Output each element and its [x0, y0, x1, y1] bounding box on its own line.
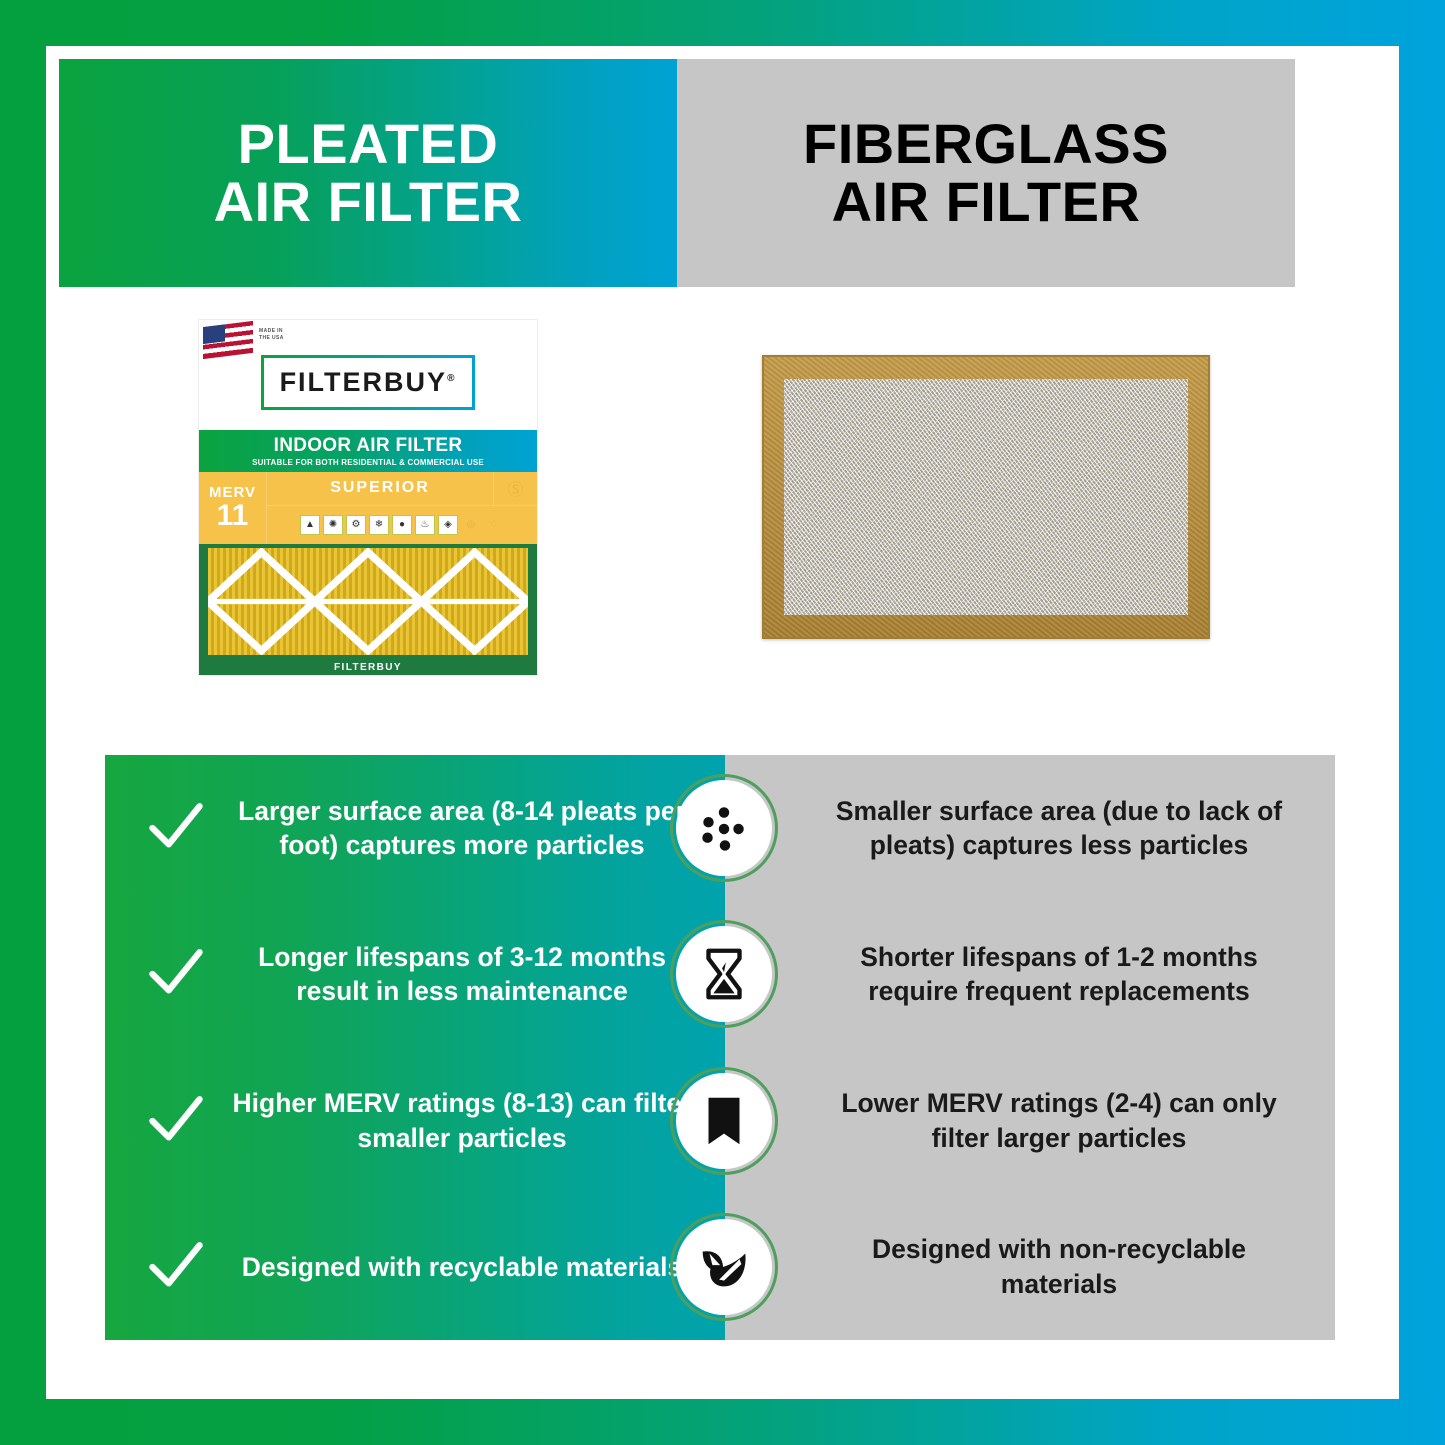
fb-gold-strip: MERV 11 SUPERIOR Ⓢ ▲ ✺ ⚙ ❄ ● [199, 472, 537, 544]
row-left-3: Higher MERV ratings (8-13) can filter sm… [105, 1086, 725, 1155]
row-right-text-1: Smaller surface area (due to lack of ple… [725, 794, 1335, 863]
filterbuy-product-box: MADE INTHE USA FILTERBUY® INDOOR AIR FIL… [199, 320, 537, 675]
usa-flag-icon [203, 320, 253, 358]
row-right-text-2: Shorter lifespans of 1-2 months require … [725, 940, 1335, 1009]
comparison-row: Larger surface area (8-14 pleats per foo… [105, 755, 1335, 901]
header-fiberglass-line2: AIR FILTER [832, 173, 1141, 231]
leaf-icon [670, 1213, 778, 1321]
hourglass-icon [670, 920, 778, 1028]
row-left-1: Larger surface area (8-14 pleats per foo… [105, 794, 725, 863]
row-left-text-2: Longer lifespans of 3-12 months result i… [221, 940, 703, 1009]
comparison-row: Higher MERV ratings (8-13) can filter sm… [105, 1048, 1335, 1194]
row-left-text-4: Designed with recyclable materials [221, 1250, 703, 1284]
fb-tier-label: SUPERIOR [267, 479, 493, 497]
header-pleated: PLEATED AIR FILTER [59, 59, 677, 287]
comparison-section: Larger surface area (8-14 pleats per foo… [105, 755, 1335, 1340]
bookmark-icon [670, 1067, 778, 1175]
row-right-text-3: Lower MERV ratings (2-4) can only filter… [725, 1086, 1335, 1155]
fb-feature-icon-row: ▲ ✺ ⚙ ❄ ● ♨ ◈ ◎ ♢ [267, 506, 537, 544]
bacteria-icon: ● [392, 515, 412, 535]
checkmark-icon [141, 945, 211, 1003]
merv-value: 11 [217, 501, 249, 531]
fiberglass-mesh-media [784, 379, 1188, 615]
row-left-text-3: Higher MERV ratings (8-13) can filter sm… [221, 1086, 703, 1155]
header-fiberglass-line1: FIBERGLASS [803, 115, 1169, 173]
trademark-symbol: ® [447, 373, 456, 384]
fb-support-wires [208, 548, 528, 655]
smoke-icon: ◈ [438, 515, 458, 535]
mold-icon: ⚙ [346, 515, 366, 535]
fb-indoor-band: INDOOR AIR FILTER SUITABLE FOR BOTH RESI… [199, 430, 537, 472]
fiberglass-filter-image [762, 355, 1210, 639]
checkmark-icon [141, 1238, 211, 1296]
comparison-row: Designed with recyclable materials Desig… [105, 1194, 1335, 1340]
particles-icon [670, 774, 778, 882]
row-left-4: Designed with recyclable materials [105, 1238, 725, 1296]
header-pleated-line2: AIR FILTER [214, 173, 523, 231]
checkmark-icon [141, 799, 211, 857]
pollen-icon: ❄ [369, 515, 389, 535]
checkmark-icon [141, 1092, 211, 1150]
filterbuy-logo-text: FILTERBUY® [280, 367, 457, 398]
comparison-row: Longer lifespans of 3-12 months result i… [105, 901, 1335, 1047]
ul-seal-icon: Ⓢ [493, 472, 537, 505]
brand-word: FILTERBUY [280, 367, 448, 397]
product-photo-row: MADE INTHE USA FILTERBUY® INDOOR AIR FIL… [59, 287, 1295, 707]
row-left-2: Longer lifespans of 3-12 months result i… [105, 940, 725, 1009]
header-fiberglass: FIBERGLASS AIR FILTER [677, 59, 1295, 287]
header-row: PLEATED AIR FILTER FIBERGLASS AIR FILTER [59, 59, 1295, 287]
fb-bottom-brand: FILTERBUY [199, 662, 537, 673]
pet-dander-icon: ♨ [415, 515, 435, 535]
odor-icon: ◎ [461, 515, 481, 535]
voc-icon: ♢ [484, 515, 504, 535]
row-right-text-4: Designed with non-recyclable materials [725, 1232, 1335, 1301]
made-in-usa-label: MADE INTHE USA [259, 328, 284, 343]
fb-band-subtitle: SUITABLE FOR BOTH RESIDENTIAL & COMMERCI… [252, 458, 484, 467]
fiberglass-photo-cell [677, 287, 1295, 707]
row-left-text-1: Larger surface area (8-14 pleats per foo… [221, 794, 703, 863]
fb-gold-right: SUPERIOR Ⓢ ▲ ✺ ⚙ ❄ ● ♨ ◈ ◎ ♢ [267, 472, 537, 544]
fb-tier-row: SUPERIOR Ⓢ [267, 472, 537, 506]
fb-box-header: MADE INTHE USA FILTERBUY® [199, 320, 537, 430]
filterbuy-logo-frame: FILTERBUY® [261, 355, 476, 410]
dustmite-icon: ✺ [323, 515, 343, 535]
infographic-root: PLEATED AIR FILTER FIBERGLASS AIR FILTER… [0, 0, 1445, 1445]
merv-badge: MERV 11 [199, 472, 267, 544]
header-pleated-line1: PLEATED [238, 115, 499, 173]
comparison-rows: Larger surface area (8-14 pleats per foo… [105, 755, 1335, 1340]
dust-icon: ▲ [300, 515, 320, 535]
fb-band-title: INDOOR AIR FILTER [274, 435, 463, 457]
fb-pleated-media: FILTERBUY [199, 544, 537, 675]
pleated-photo-cell: MADE INTHE USA FILTERBUY® INDOOR AIR FIL… [59, 287, 677, 707]
